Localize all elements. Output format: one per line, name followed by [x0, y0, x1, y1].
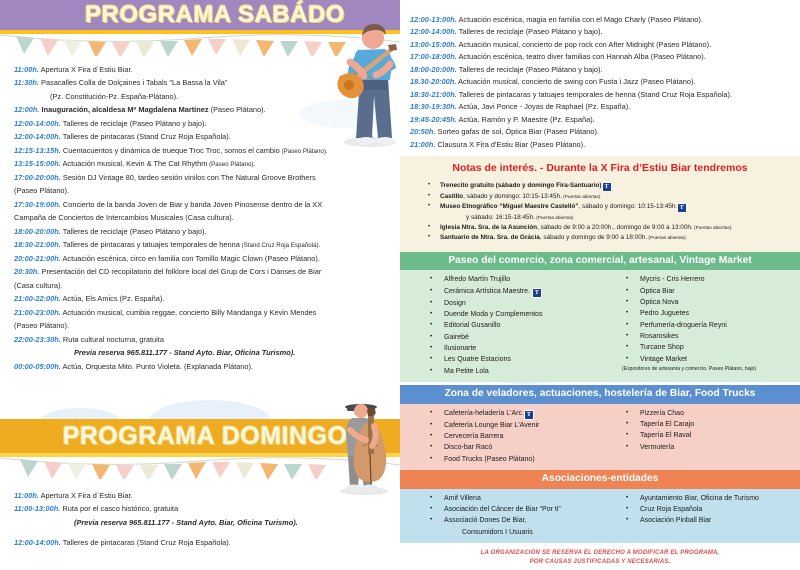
event-row-continuation: (Pz. Constitución-Pz. España-Plátano). [14, 91, 392, 103]
list-item-label: Alfredo Martín Trujillo [444, 276, 510, 283]
event-text: Ruta por el casco histórico, gratuita [60, 504, 178, 513]
event-row: 12:00-14:00h. Talleres de reciclaje (Pas… [14, 118, 392, 130]
food-right-col: •Pizzería Chao •Tapería El Carajo •Taper… [600, 408, 796, 465]
food-right-list: •Pizzería Chao •Tapería El Carajo •Taper… [600, 408, 796, 453]
list-item: •Cafetería-heladería L'Arc.T [404, 408, 600, 420]
bullet-icon: • [430, 286, 432, 297]
bullet-icon: • [428, 202, 430, 211]
event-text: Actúa, Javi Ponce - Joyas de Raphael (Pz… [457, 102, 630, 111]
list-item: •Óptica Biar [600, 286, 796, 297]
event-row: 13:15-15:00h. Actuación musical, Kevin &… [14, 158, 392, 170]
notes-section: Notas de interés. - Durante la X Fira d’… [400, 156, 800, 251]
sunday-banner-wrap: PROGRAMA DOMINGO [0, 419, 400, 459]
tourist-info-glyph: T [602, 182, 612, 192]
bullet-icon: • [430, 420, 432, 431]
event-time: 13:00-15:00h. [410, 40, 457, 49]
event-text: Actuación musical, Kevin & The Cat Rhyth… [61, 159, 208, 168]
bullet-icon: • [430, 309, 432, 320]
commerce-right-list: •Mycris - Cris Herrero •Óptica Biar •Ópt… [600, 274, 796, 365]
commerce-right-col: •Mycris - Cris Herrero •Óptica Biar •Ópt… [600, 274, 796, 377]
event-row: 21:00h. Clausura X Fira d'Estiu Biar (Pa… [410, 139, 794, 150]
list-item: •Ilusionarte [404, 343, 600, 354]
list-item-label: Rosarosikes [640, 333, 679, 340]
note-item: • Castillo, sábado y domingo: 10:15-13:4… [406, 192, 794, 202]
tourist-info-icon: T [532, 286, 542, 298]
note-bold: Museo Etnográfico “Miguel Maestre Castel… [440, 203, 579, 210]
reservation-text: Previa reserva 965.811.177 - Stand Ayto.… [74, 348, 295, 357]
list-item-label: Vintage Market [640, 356, 687, 363]
poster-page: PROGRAMA SABÁDO [0, 0, 800, 570]
disclaimer-line-1: LA ORGANIZACIÓN SE RESERVA EL DERECHO A … [410, 549, 790, 558]
event-time: 12:15-13:15h. [14, 146, 61, 155]
event-time: 12:00-14:00h. [14, 132, 61, 141]
event-text: Pasacalles Colla de Dolçaines i Tabals "… [39, 78, 228, 87]
disclaimer-line-2: POR CAUSAS JUSTIFICADAS Y NECESARIAS. [410, 558, 790, 567]
list-item-label: Pizzería Chao [640, 410, 684, 417]
event-text: Talleres de pintacaras y tatuajes tempor… [457, 90, 732, 99]
event-time: 20:00-21:00h. [14, 254, 61, 263]
bullet-icon: • [430, 408, 432, 419]
bullet-icon: • [430, 320, 432, 331]
commerce-left-col: •Alfredo Martín Trujillo •Cerámica Artís… [404, 274, 600, 377]
tourist-info-glyph: T [677, 203, 687, 213]
commerce-header: Paseo del comercio, zona comercial, arte… [400, 252, 800, 271]
list-item-label: Editorial Gusanillo [444, 322, 500, 329]
bullet-icon: • [626, 504, 628, 515]
list-item-label: Cerámica Artística Maestre. [444, 288, 530, 295]
event-text: Apertura X Fira d´Estiu Biar. [39, 491, 133, 500]
event-text: Talleres de pintacaras y tatuajes tempor… [61, 240, 240, 249]
list-item-label: Cervecería Barrera [444, 433, 504, 440]
list-item-label: Dosign [444, 300, 466, 307]
commerce-columns: •Alfredo Martín Trujillo •Cerámica Artís… [404, 274, 796, 377]
reservation-note: Previa reserva 965.811.177 - Stand Ayto.… [14, 347, 392, 359]
event-text: (Paseo Plátano). [209, 105, 266, 114]
bullet-icon: • [430, 454, 432, 465]
bullet-icon: • [626, 331, 628, 342]
event-row-continuation: Campaña de Conciertos de Intercambios Mu… [14, 212, 392, 224]
note-item: • Santuario de Ntra. Sra. de Grácia, sáb… [406, 233, 794, 243]
list-item-label: Disco-bar Racó [444, 444, 492, 451]
assoc-body: •Amif Villena •Asociación del Cáncer de … [400, 489, 800, 543]
bullet-icon: • [430, 332, 432, 343]
bullet-icon: • [626, 354, 628, 365]
event-text: Clausura X Fira d'Estiu Biar (Paseo Plát… [435, 140, 585, 149]
event-row: 11:00h. Apertura X Fira d´Estiu Biar. [14, 490, 392, 502]
bullet-icon: • [428, 192, 430, 201]
event-row: 12:00-13:00h. Actuación escénica, magia … [410, 14, 794, 25]
list-item: •Duende Moda y Complementos [404, 309, 600, 320]
event-text: Talleres de reciclaje (Paseo Plátano y b… [61, 119, 207, 128]
note-item: • Trenecito gratuito (sábado y domingo F… [406, 181, 794, 192]
bullet-icon: • [626, 297, 628, 308]
list-item-label: Amif Villena [444, 495, 481, 502]
event-time: 17:30-19:00h. [14, 200, 61, 209]
event-time: 12:00-14:00h. [14, 119, 61, 128]
list-item: •Tapería El Raval [600, 430, 796, 441]
event-text: Actuación musical, concierto de swing co… [456, 77, 695, 86]
list-item-continuation: Consumidors I Usuaris [404, 527, 600, 538]
commerce-body: •Alfredo Martín Trujillo •Cerámica Artís… [400, 270, 800, 382]
event-text: (Pz. Constitución-Pz. España-Plátano). [50, 92, 178, 101]
notes-list: • Trenecito gratuito (sábado y domingo F… [406, 181, 794, 243]
event-row: 12:00-14:00h. Talleres de pintacaras (St… [14, 131, 392, 143]
list-item-label: Duende Moda y Complementos [444, 311, 542, 318]
tourist-info-icon: T [677, 202, 687, 213]
event-row: 19:45-20:45h. Actúa, Ramón y P. Maestre … [410, 114, 794, 125]
event-time: 18:30-19:30h. [410, 102, 457, 111]
tourist-info-icon: T [602, 181, 612, 192]
list-item: •Tapería El Carajo [600, 419, 796, 430]
event-time: 18:30-21:00h. [14, 240, 61, 249]
bullet-icon: • [626, 442, 628, 453]
event-time: 22:00-23:30h. [14, 335, 61, 344]
bullet-icon: • [626, 493, 628, 504]
bullet-icon: • [626, 274, 628, 285]
event-time: 21:00-22:00h. [14, 294, 61, 303]
event-row: 12:15-13:15h. Cuentacuentos y dinámica d… [14, 145, 392, 157]
sunday-schedule-right: 12:00-13:00h. Actuación escénica, magia … [400, 0, 800, 150]
event-text: Ruta cultural nocturna, gratuita [61, 335, 164, 344]
list-item: •Pizzería Chao [600, 408, 796, 419]
assoc-right-col: •Ayuntamiento Biar, Oficina de Turismo •… [600, 493, 796, 538]
event-row: 20:00-21:00h. Actuación escénica, circo … [14, 253, 392, 265]
sunday-schedule-left: 11:00h. Apertura X Fira d´Estiu Biar. 11… [0, 484, 400, 550]
note-rest: , sábado de 9:00 a 20:00h., domingo de 9… [537, 224, 693, 231]
list-item-label: Associació Dones De Biar, [444, 517, 526, 524]
event-row: 11:00-13:00h. Ruta por el casco históric… [14, 503, 392, 515]
note-item-continuation: y sábado: 16:15-18:45h. (Puertas abierta… [406, 213, 794, 223]
right-column: 12:00-13:00h. Actuación escénica, magia … [400, 0, 800, 570]
list-item-label: Asociación del Cáncer de Biar “Por ti” [444, 506, 561, 513]
list-item: •Amif Villena [404, 493, 600, 504]
tourist-info-glyph: T [524, 410, 534, 420]
event-time: 18:30-21:00h. [410, 90, 457, 99]
event-text: Cuentacuentos y dinámica de trueque Troc… [61, 146, 280, 155]
list-item: •Cervecería Barrera [404, 431, 600, 442]
note-bold: Iglesia Ntra. Sra. de la Asunción [440, 224, 537, 231]
note-bold: Santuario de Ntra. Sra. de Grácia [440, 234, 540, 241]
event-row: 17:30-19:00h. Concierto de la banda Jove… [14, 199, 392, 211]
note-tiny: (Puertas abiertas). [693, 225, 733, 230]
sunday-title: PROGRAMA DOMINGO [0, 419, 400, 453]
left-column: PROGRAMA SABÁDO [0, 0, 400, 570]
list-item-label: Cafetería-heladería L'Arc. [444, 410, 524, 417]
event-time: 13:15-15:00h. [14, 159, 61, 168]
list-item-label: Les Quatre Estacions [444, 356, 511, 363]
event-time: 12:00h. [14, 105, 39, 114]
bullet-icon: • [430, 442, 432, 453]
list-item-label: Tapería El Raval [640, 432, 691, 439]
event-row: 12:00-14:00h. Talleres de reciclaje (Pas… [410, 26, 794, 37]
list-item-label: Perfumería-droguería Reyni [640, 322, 727, 329]
event-time: 20:50h. [410, 127, 435, 136]
list-item: •Cafetería Lounge Biar L'Avenir [404, 420, 600, 431]
list-item: •Rosarosikes [600, 331, 796, 342]
event-time: 18:00-20:00h. [410, 65, 457, 74]
list-item: •Cruz Roja Española [600, 504, 796, 515]
event-text: Actúa, Ramón y P. Maestre (Pz. España). [457, 115, 595, 124]
event-text: Actuación escénica, circo en familia con… [61, 254, 320, 263]
list-item: •Editorial Gusanillo [404, 320, 600, 331]
list-item-label: Gairebé [444, 334, 469, 341]
assoc-columns: •Amif Villena •Asociación del Cáncer de … [404, 493, 796, 538]
bunting-svg [0, 455, 400, 479]
event-text: (Casa cultura). [14, 281, 62, 290]
list-item: •Alfredo Martín Trujillo [404, 274, 600, 285]
event-time: 18:00-20:00h. [14, 227, 61, 236]
list-item: •Ma Petite Lola [404, 366, 600, 377]
saturday-title: PROGRAMA SABÁDO [0, 0, 400, 30]
event-time: 00:00-05:00h. [14, 362, 61, 371]
list-item: •Dosign [404, 298, 600, 309]
event-row: 21:00-23:00h. Actuación musical, cumbia … [14, 307, 392, 319]
food-left-col: •Cafetería-heladería L'Arc.T •Cafetería … [404, 408, 600, 465]
event-time: 18.30-20:00h. [410, 77, 456, 86]
commerce-left-list: •Alfredo Martín Trujillo •Cerámica Artís… [404, 274, 600, 377]
list-item-label: Consumidors I Usuaris [462, 529, 533, 536]
bullet-icon: • [626, 430, 628, 441]
assoc-header: Asociaciones-entidades [400, 470, 800, 489]
list-item: •Asociación Pinball Biar [600, 515, 796, 526]
note-bold: Castillo [440, 193, 463, 200]
event-text: Actuación escénica, teatro diver familia… [457, 52, 706, 61]
event-time: 11:00h. [14, 65, 39, 74]
event-row: 17:00-20:00h. Sesión DJ Vintage 80, tard… [14, 172, 392, 184]
event-row: 00:00-05:00h. Actúa, Orquesta Mito. Punt… [14, 361, 392, 373]
event-row: 11:30h. Pasacalles Colla de Dolçaines i … [14, 77, 392, 89]
food-body: •Cafetería-heladería L'Arc.T •Cafetería … [400, 404, 800, 470]
bullet-icon: • [626, 320, 628, 331]
bunting-sunday [0, 455, 400, 479]
tourist-info-glyph: T [532, 288, 542, 298]
event-row: 21:00-22:00h. Actúa, Els Amics (Pz. Espa… [14, 293, 392, 305]
event-text: Talleres de pintacaras (Stand Cruz Roja … [61, 538, 231, 547]
event-text-bold: Inauguración, alcaldesa Mª Magdalena Mar… [39, 105, 208, 114]
list-item: •Pedro Juguetes [600, 308, 796, 319]
note-rest: , sábado y domingo: 10:15-13:45h [579, 203, 676, 210]
saturday-schedule: 11:00h. Apertura X Fira d´Estiu Biar. 11… [0, 58, 400, 373]
bullet-icon: • [626, 419, 628, 430]
bullet-icon: • [428, 233, 430, 242]
bullet-icon: • [626, 308, 628, 319]
event-text: Actúa, Orquesta Mito. Punto Violeta. (Ex… [61, 362, 253, 371]
event-row: 12:00h. Inauguración, alcaldesa Mª Magda… [14, 104, 392, 116]
assoc-left-list: •Amif Villena •Asociación del Cáncer de … [404, 493, 600, 538]
bullet-icon: • [626, 286, 628, 297]
event-row: 20:50h. Sorteo gafas de sol, Óptica Biar… [410, 126, 794, 137]
event-text-small: (Stand Cruz Roja Española). [240, 242, 320, 249]
bullet-icon: • [428, 181, 430, 190]
event-row: 20:30h. Presentación del CD recopilatori… [14, 266, 392, 278]
list-item-label: Vermutería [640, 444, 674, 451]
food-header: Zona de veladores, actuaciones, hosteler… [400, 385, 800, 404]
reservation-note: (Previa reserva 965.811.177 - Stand Ayto… [14, 517, 392, 529]
commerce-section: Paseo del comercio, zona comercial, arte… [400, 252, 800, 382]
note-rest: , sábado y domingo de 9:00 a 18:00h. [540, 234, 647, 241]
bullet-icon: • [430, 504, 432, 515]
bullet-icon: • [428, 223, 430, 232]
event-row: 13:00-15:00h. Actuación musical, concier… [410, 39, 794, 50]
saturday-banner: PROGRAMA SABÁDO [0, 0, 400, 34]
list-item-label: Mycris - Cris Herrero [640, 276, 705, 283]
list-item: •Asociación del Cáncer de Biar “Por ti” [404, 504, 600, 515]
event-text: Concierto de la banda Joven de Biar y ba… [61, 200, 322, 209]
bullet-icon: • [430, 274, 432, 285]
bullet-icon: • [626, 408, 628, 419]
bunting-saturday [0, 32, 400, 56]
bullet-icon: • [430, 366, 432, 377]
assoc-right-list: •Ayuntamiento Biar, Oficina de Turismo •… [600, 493, 796, 527]
bullet-icon: • [430, 298, 432, 309]
event-row: 18:30-21:00h. Talleres de pintacaras y t… [14, 239, 392, 251]
food-section: Zona de veladores, actuaciones, hosteler… [400, 385, 800, 470]
event-row-continuation: (Casa cultura). [14, 280, 392, 292]
list-item-label: Food Trucks (Paseo Plátano) [444, 456, 535, 463]
event-text: Talleres de reciclaje (Paseo Plátano y b… [61, 227, 207, 236]
event-row: 18:00-20:00h. Talleres de reciclaje (Pas… [14, 226, 392, 238]
list-item: •Gairebé [404, 332, 600, 343]
event-text: Presentación del CD recopilatorio del fo… [39, 267, 321, 276]
event-row-continuation: (Paseo Plátano). [14, 320, 392, 332]
list-item: •Cerámica Artística Maestre. T [404, 286, 600, 298]
assoc-section: Asociaciones-entidades •Amif Villena •As… [400, 470, 800, 543]
event-time: 17:00-18:00h. [410, 52, 457, 61]
list-item-label: Tapería El Carajo [640, 421, 694, 428]
event-time: 20:30h. [14, 267, 39, 276]
note-rest: , sábado y domingo: 10:15-13:45h. [463, 193, 562, 200]
event-text: (Paseo Plátano). [14, 321, 69, 330]
food-columns: •Cafetería-heladería L'Arc.T •Cafetería … [404, 408, 796, 465]
list-item-label: Cruz Roja Española [640, 506, 702, 513]
event-time: 17:00-20:00h. [14, 173, 61, 182]
bullet-icon: • [626, 342, 628, 353]
list-item: •Mycris - Cris Herrero [600, 274, 796, 285]
event-time: 11:30h. [14, 78, 39, 87]
list-item: •Vintage Market [600, 354, 796, 365]
notes-title: Notas de interés. - Durante la X Fira d’… [406, 162, 794, 174]
event-time: 21:00h. [410, 140, 435, 149]
note-item: • Museo Etnográfico “Miguel Maestre Cast… [406, 202, 794, 213]
event-row: 18:00-20:00h. Talleres de reciclaje (Pas… [410, 64, 794, 75]
event-text: Apertura X Fira d´Estiu Biar. [39, 65, 133, 74]
bullet-icon: • [430, 354, 432, 365]
event-row: 18.30-20:00h. Actuación musical, concier… [410, 76, 794, 87]
event-text: (Paseo Plátano). [14, 186, 69, 195]
list-item-label: Ilusionarte [444, 345, 476, 352]
assoc-left-col: •Amif Villena •Asociación del Cáncer de … [404, 493, 600, 538]
event-time: 12:00-13:00h. [410, 15, 457, 24]
bullet-icon: • [430, 515, 432, 526]
commerce-footnote: (Expositores de artesanía y comercio. Pa… [600, 366, 796, 373]
note-tiny: (Puertas abiertas) [535, 215, 574, 220]
event-text: Campaña de Conciertos de Intercambios Mu… [14, 213, 234, 222]
event-time: 11:00h. [14, 491, 39, 500]
note-tiny: (Puertas abiertas) [562, 194, 601, 199]
tourist-info-icon: T [524, 408, 534, 420]
event-time: 12:00-14:00h. [410, 27, 457, 36]
event-time: 11:00-13:00h. [14, 504, 60, 513]
list-item: •Turcane Shop [600, 342, 796, 353]
event-row-continuation: (Paseo Plátano). [14, 185, 392, 197]
event-time: 19:45-20:45h. [410, 115, 457, 124]
list-item: •Ayuntamiento Biar, Oficina de Turismo [600, 493, 796, 504]
food-left-list: •Cafetería-heladería L'Arc.T •Cafetería … [404, 408, 600, 465]
event-text: Talleres de reciclaje (Paseo Plátano y b… [457, 27, 603, 36]
reservation-text: (Previa reserva 965.811.177 - Stand Ayto… [74, 518, 298, 527]
list-item: •Vermutería [600, 442, 796, 453]
list-item: •Perfumería-droguería Reyni [600, 320, 796, 331]
list-item-label: Óptica Biar [640, 288, 675, 295]
event-row: 17:00-18:00h. Actuación escénica, teatro… [410, 51, 794, 62]
bullet-icon: • [430, 431, 432, 442]
event-row: 12:00-14:00h. Talleres de pintacaras (St… [14, 537, 392, 549]
list-item: •Food Trucks (Paseo Plátano) [404, 454, 600, 465]
bunting-svg [0, 32, 400, 56]
event-row: 18:30-21:00h. Talleres de pintacaras y t… [410, 89, 794, 100]
event-row: 11:00h. Apertura X Fira d´Estiu Biar. [14, 64, 392, 76]
event-text: Actuación musical, cumbia reggae, concie… [61, 308, 317, 317]
event-text-small: (Paseo Plátano). [207, 161, 255, 168]
list-item-label: Cafetería Lounge Biar L'Avenir [444, 422, 539, 429]
event-text: Actúa, Els Amics (Pz. España). [61, 294, 165, 303]
note-tiny: (Puertas abiertas). [647, 235, 687, 240]
event-row: 18:30-19:30h. Actúa, Javi Ponce - Joyas … [410, 101, 794, 112]
list-item-label: Asociación Pinball Biar [640, 517, 711, 524]
list-item: •Disco-bar Racó [404, 442, 600, 453]
note-item: • Iglesia Ntra. Sra. de la Asunción, sáb… [406, 223, 794, 233]
bullet-icon: • [430, 493, 432, 504]
event-text: Actuación escénica, magia en familia con… [457, 15, 703, 24]
event-text: Actuación musical, concierto de pop rock… [457, 40, 711, 49]
event-text: Talleres de pintacaras (Stand Cruz Roja … [61, 132, 231, 141]
bullet-icon: • [626, 515, 628, 526]
sunday-banner: PROGRAMA DOMINGO [0, 419, 400, 459]
list-item-label: Pedro Juguetes [640, 310, 689, 317]
bullet-icon: • [430, 343, 432, 354]
disclaimer: LA ORGANIZACIÓN SE RESERVA EL DERECHO A … [400, 543, 800, 567]
list-item-label: Turcane Shop [640, 344, 684, 351]
list-item: •Óptica Nova [600, 297, 796, 308]
event-text: Sorteo gafas de sol, Óptica Biar (Paseo … [435, 127, 599, 136]
event-time: 21:00-23:00h. [14, 308, 61, 317]
event-time: 12:00-14:00h. [14, 538, 61, 547]
event-row: 22:00-23:30h. Ruta cultural nocturna, gr… [14, 334, 392, 346]
event-text-small: (Paseo Plátano). [280, 148, 328, 155]
list-item-label: Óptica Nova [640, 299, 679, 306]
list-item: •Associació Dones De Biar, [404, 515, 600, 526]
event-text: Talleres de reciclaje (Paseo Plátano y b… [457, 65, 603, 74]
list-item-label: Ayuntamiento Biar, Oficina de Turismo [640, 495, 759, 502]
note-bold: Trenecito gratuito (sábado y domingo Fir… [440, 182, 602, 189]
list-item-label: Ma Petite Lola [444, 368, 489, 375]
event-text: Sesión DJ Vintage 80, tardeo sesión vini… [61, 173, 316, 182]
note-rest: y sábado: 16:15-18:45h. [466, 214, 535, 221]
list-item: •Les Quatre Estacions [404, 354, 600, 365]
